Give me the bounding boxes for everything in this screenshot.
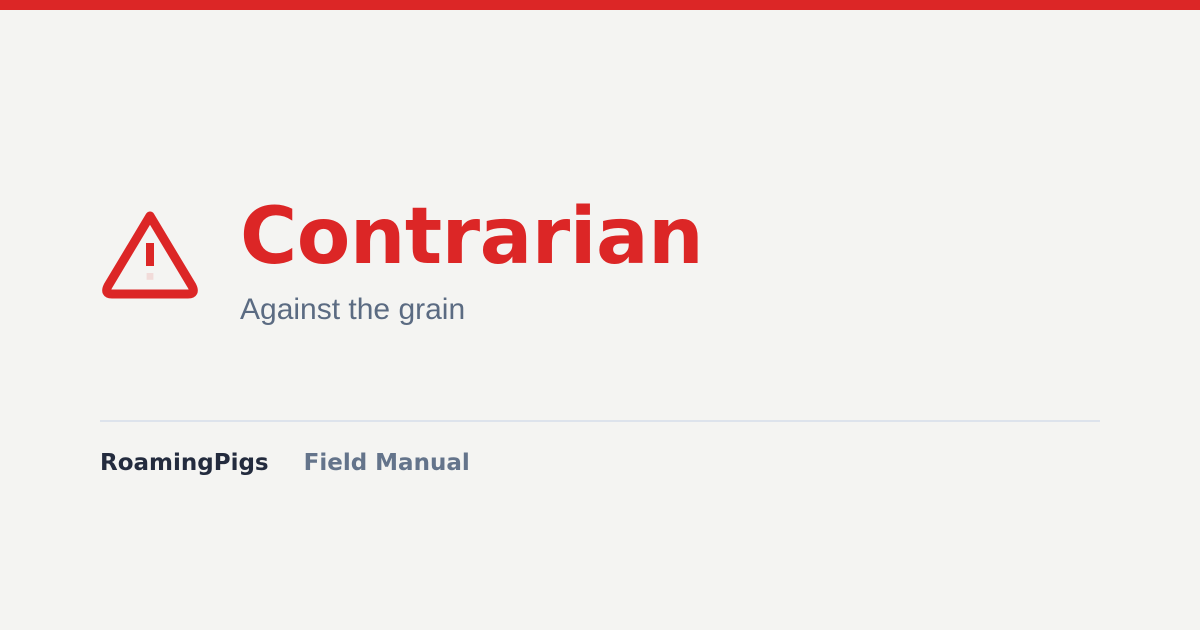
- page-subtitle: Against the grain: [240, 275, 703, 327]
- page-container: Contrarian Against the grain RoamingPigs…: [0, 10, 1200, 630]
- footer-meta: RoamingPigs Field Manual: [100, 450, 470, 476]
- footer-brand: RoamingPigs: [100, 450, 269, 476]
- hero-block: Contrarian Against the grain: [100, 200, 703, 327]
- page-title: Contrarian: [240, 200, 703, 275]
- divider: [100, 420, 1100, 422]
- top-accent-bar: [0, 0, 1200, 10]
- warning-triangle-icon: [100, 206, 200, 302]
- footer-section: Field Manual: [304, 450, 470, 476]
- hero-text: Contrarian Against the grain: [240, 200, 703, 327]
